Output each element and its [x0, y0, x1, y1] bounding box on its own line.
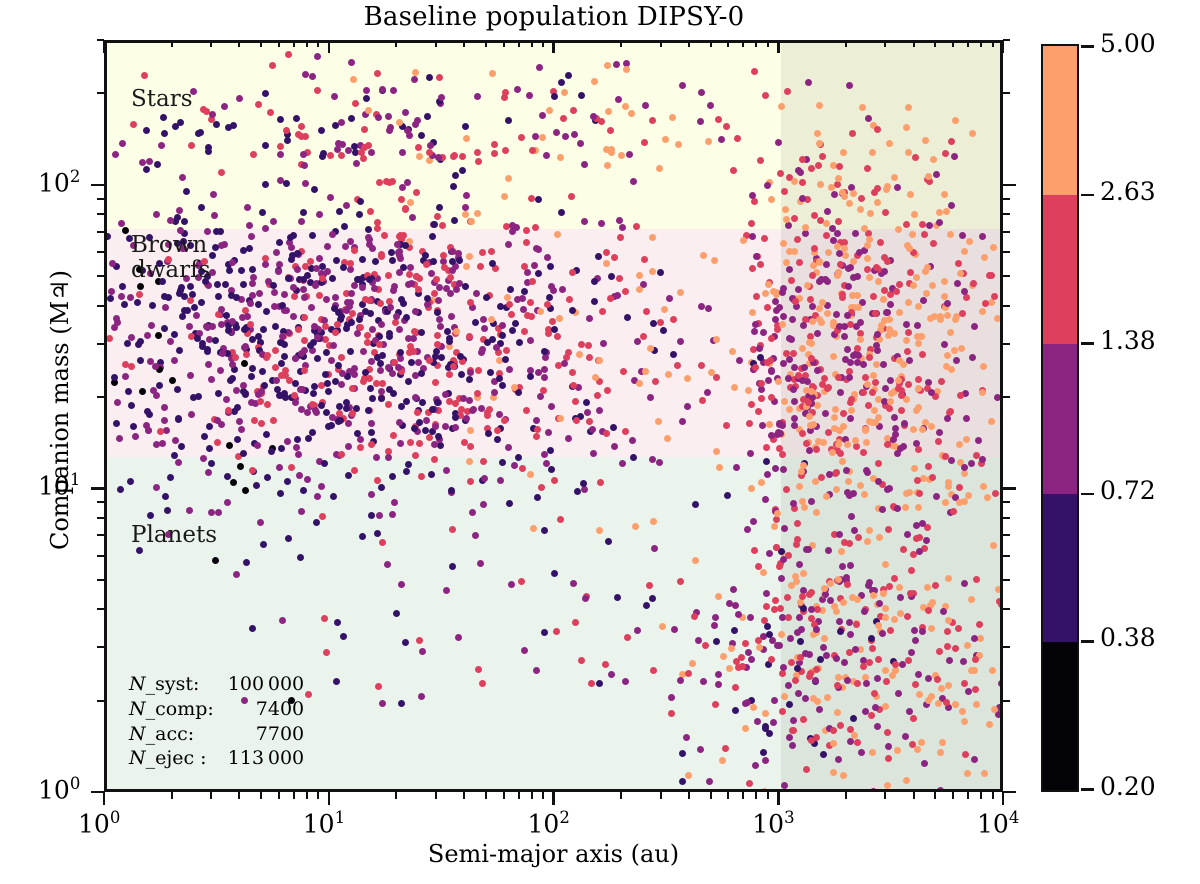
- scatter-point: [585, 342, 592, 349]
- scatter-point: [831, 414, 838, 421]
- scatter-point: [795, 286, 802, 293]
- scatter-point: [405, 281, 412, 288]
- scatter-point: [643, 308, 650, 315]
- scatter-point: [479, 680, 486, 687]
- scatter-point: [301, 367, 308, 374]
- scatter-point: [260, 326, 267, 333]
- scatter-point: [910, 715, 917, 722]
- scatter-point: [762, 723, 769, 730]
- scatter-point: [607, 295, 614, 302]
- scatter-point: [591, 278, 598, 285]
- scatter-point: [972, 656, 979, 663]
- scatter-point: [795, 690, 802, 697]
- scatter-point: [911, 465, 918, 472]
- scatter-point: [849, 130, 856, 137]
- scatter-point: [700, 252, 707, 259]
- scatter-point: [436, 74, 443, 81]
- scatter-point: [368, 512, 375, 519]
- scatter-point: [869, 389, 876, 396]
- scatter-point: [172, 437, 179, 444]
- scatter-point: [854, 739, 861, 746]
- scatter-point: [862, 374, 869, 381]
- scatter-point: [808, 737, 815, 744]
- colorbar: [1041, 44, 1079, 792]
- scatter-point: [385, 272, 392, 279]
- scatter-point: [906, 708, 913, 715]
- scatter-point: [998, 680, 1003, 687]
- scatter-point: [573, 417, 580, 424]
- scatter-point: [402, 206, 409, 213]
- scatter-point: [911, 627, 918, 634]
- scatter-point: [874, 723, 881, 730]
- scatter-point: [838, 548, 845, 555]
- colorbar-tick: [1081, 493, 1094, 496]
- scatter-point: [808, 165, 815, 172]
- scatter-point: [860, 449, 867, 456]
- scatter-point: [815, 438, 822, 445]
- scatter-point: [187, 372, 194, 379]
- scatter-point: [699, 397, 706, 404]
- scatter-point: [407, 439, 414, 446]
- scatter-point: [788, 582, 795, 589]
- scatter-point: [629, 437, 636, 444]
- scatter-point: [767, 357, 774, 364]
- scatter-point: [619, 224, 626, 231]
- scatter-point: [273, 249, 280, 256]
- scatter-point: [381, 232, 388, 239]
- scatter-point: [224, 499, 231, 506]
- scatter-point: [760, 569, 767, 576]
- scatter-point: [934, 676, 941, 683]
- scatter-point: [570, 382, 577, 389]
- scatter-point: [836, 250, 843, 257]
- scatter-point: [271, 303, 278, 310]
- scatter-point: [551, 570, 558, 577]
- scatter-point: [446, 371, 453, 378]
- scatter-point: [791, 178, 798, 185]
- scatter-point: [911, 211, 918, 218]
- y-major-tick-right: [1003, 487, 1016, 490]
- scatter-point: [794, 520, 801, 527]
- scatter-point: [186, 323, 193, 330]
- scatter-point: [885, 743, 892, 750]
- scatter-point: [366, 241, 373, 248]
- scatter-point: [127, 294, 134, 301]
- scatter-point: [410, 348, 417, 355]
- scatter-point: [677, 338, 684, 345]
- scatter-point: [283, 180, 290, 187]
- colorbar-tick: [1081, 194, 1094, 197]
- scatter-point: [340, 633, 347, 640]
- scatter-point: [649, 268, 656, 275]
- colorbar-segment-1.38-2.63: [1043, 194, 1077, 344]
- scatter-point: [463, 263, 470, 270]
- scatter-point: [684, 403, 691, 410]
- scatter-point: [412, 69, 419, 76]
- scatter-point: [805, 399, 812, 406]
- scatter-point: [906, 245, 913, 252]
- scatter-point: [912, 154, 919, 161]
- scatter-point: [362, 369, 369, 376]
- scatter-point: [297, 386, 304, 393]
- scatter-point: [186, 507, 193, 514]
- scatter-point: [919, 221, 926, 228]
- scatter-point: [483, 294, 490, 301]
- scatter-point: [477, 263, 484, 270]
- scatter-point: [852, 437, 859, 444]
- scatter-point: [837, 389, 844, 396]
- scatter-point: [724, 492, 731, 499]
- scatter-point: [176, 207, 183, 214]
- scatter-point: [300, 209, 307, 216]
- scatter-point: [715, 671, 722, 678]
- scatter-point: [876, 534, 883, 541]
- y-minor-tick-right: [1003, 700, 1010, 702]
- scatter-point: [337, 417, 344, 424]
- scatter-point: [134, 299, 141, 306]
- scatter-point: [153, 484, 160, 491]
- scatter-point: [473, 290, 480, 297]
- scatter-point: [154, 161, 161, 168]
- scatter-point: [405, 461, 412, 468]
- scatter-point: [841, 659, 848, 666]
- scatter-point: [887, 398, 894, 405]
- scatter-point: [292, 380, 299, 387]
- scatter-point: [746, 420, 753, 427]
- scatter-point: [641, 139, 648, 146]
- scatter-point: [390, 87, 397, 94]
- scatter-point: [643, 602, 650, 609]
- scatter-point: [275, 268, 282, 275]
- scatter-point: [305, 435, 312, 442]
- scatter-point: [586, 315, 593, 322]
- scatter-point: [764, 182, 771, 189]
- scatter-point: [698, 89, 705, 96]
- scatter-point: [863, 439, 870, 446]
- scatter-point: [570, 580, 577, 587]
- scatter-point: [389, 257, 396, 264]
- scatter-point: [866, 354, 873, 361]
- scatter-point: [541, 348, 548, 355]
- scatter-point: [535, 196, 542, 203]
- scatter-point: [848, 513, 855, 520]
- scatter-point: [790, 727, 797, 734]
- scatter-point: [294, 266, 301, 273]
- scatter-point: [208, 509, 215, 516]
- scatter-point: [994, 315, 1001, 322]
- scatter-point: [316, 292, 323, 299]
- scatter-point: [541, 451, 548, 458]
- colorbar-tick-label: 0.38: [1100, 623, 1156, 652]
- scatter-point: [262, 225, 269, 232]
- scatter-point: [459, 167, 466, 174]
- scatter-point: [171, 357, 178, 364]
- scatter-point: [858, 749, 865, 756]
- scatter-point: [806, 413, 813, 420]
- scatter-point: [273, 377, 280, 384]
- scatter-point: [427, 142, 434, 149]
- scatter-point: [599, 308, 606, 315]
- scatter-point: [172, 123, 179, 130]
- scatter-point: [697, 746, 704, 753]
- scatter-point: [824, 310, 831, 317]
- scatter-point: [809, 303, 816, 310]
- scatter-point: [943, 208, 950, 215]
- scatter-point: [480, 458, 487, 465]
- scatter-point: [338, 313, 345, 320]
- scatter-point: [530, 525, 537, 532]
- scatter-point: [757, 157, 764, 164]
- scatter-point: [524, 269, 531, 276]
- scatter-point: [291, 293, 298, 300]
- scatter-point: [284, 137, 291, 144]
- scatter-point: [270, 218, 277, 225]
- scatter-point: [860, 389, 867, 396]
- x-minor-tick: [260, 792, 262, 799]
- scatter-point: [132, 433, 139, 440]
- scatter-point: [706, 778, 713, 785]
- scatter-point: [301, 294, 308, 301]
- scatter-point: [368, 149, 375, 156]
- scatter-point: [835, 756, 842, 763]
- scatter-point: [372, 258, 379, 265]
- scatter-point: [128, 402, 135, 409]
- scatter-point: [285, 51, 292, 58]
- scatter-point: [919, 628, 926, 635]
- scatter-point: [589, 426, 596, 433]
- scatter-point: [901, 420, 908, 427]
- y-minor-tick: [97, 646, 104, 648]
- scatter-point: [217, 367, 224, 374]
- scatter-point: [254, 442, 261, 449]
- scatter-point: [267, 109, 274, 116]
- scatter-point: [528, 195, 535, 202]
- scatter-point: [474, 93, 481, 100]
- scatter-point: [118, 220, 125, 227]
- scatter-point: [816, 706, 823, 713]
- scatter-point: [912, 637, 919, 644]
- scatter-point: [930, 240, 937, 247]
- scatter-point: [463, 415, 470, 422]
- scatter-point: [345, 443, 352, 450]
- scatter-point: [834, 682, 841, 689]
- scatter-point: [541, 366, 548, 373]
- scatter-point: [481, 325, 488, 332]
- scatter-point: [137, 357, 144, 364]
- scatter-point: [408, 359, 415, 366]
- scatter-point: [969, 130, 976, 137]
- scatter-point: [778, 575, 785, 582]
- scatter-point: [780, 240, 787, 247]
- scatter-point: [367, 310, 374, 317]
- scatter-point: [561, 89, 568, 96]
- scatter-point: [285, 275, 292, 282]
- scatter-point: [544, 301, 551, 308]
- scatter-point: [214, 439, 221, 446]
- scatter-point: [161, 325, 168, 332]
- scatter-point: [557, 516, 564, 523]
- scatter-point: [359, 533, 366, 540]
- scatter-point: [292, 355, 299, 362]
- scatter-point: [536, 64, 543, 71]
- scatter-point: [730, 167, 737, 174]
- scatter-point: [777, 605, 784, 612]
- scatter-point: [990, 542, 997, 549]
- scatter-point: [968, 596, 975, 603]
- x-minor-tick: [688, 792, 690, 799]
- scatter-point: [551, 326, 558, 333]
- x-tick-label: 104: [977, 808, 1019, 838]
- scatter-point: [162, 304, 169, 311]
- scatter-point: [263, 431, 270, 438]
- scatter-point: [463, 192, 470, 199]
- stats-key: N_ejec :: [129, 746, 228, 771]
- scatter-point: [812, 478, 819, 485]
- scatter-point: [968, 667, 975, 674]
- scatter-point: [190, 394, 197, 401]
- scatter-point: [830, 727, 837, 734]
- scatter-point: [937, 787, 944, 792]
- scatter-point: [893, 288, 900, 295]
- scatter-point: [264, 474, 271, 481]
- scatter-point: [971, 756, 978, 763]
- scatter-point: [837, 722, 844, 729]
- scatter-point: [865, 402, 872, 409]
- scatter-point: [850, 715, 857, 722]
- scatter-point: [805, 546, 812, 553]
- scatter-point: [773, 516, 780, 523]
- scatter-point: [553, 129, 560, 136]
- scatter-point: [586, 418, 593, 425]
- scatter-point: [758, 386, 765, 393]
- scatter-point: [896, 357, 903, 364]
- scatter-point: [544, 254, 551, 261]
- scatter-point: [962, 751, 969, 758]
- scatter-point: [319, 513, 326, 520]
- colorbar-tick-label: 5.00: [1100, 29, 1156, 58]
- scatter-point: [433, 276, 440, 283]
- scatter-point: [434, 399, 441, 406]
- scatter-point: [836, 531, 843, 538]
- scatter-point: [846, 374, 853, 381]
- x-minor-tick: [727, 792, 729, 799]
- y-minor-tick-right: [1003, 646, 1010, 648]
- scatter-point: [942, 453, 949, 460]
- scatter-point: [143, 422, 150, 429]
- scatter-point: [397, 349, 404, 356]
- plot-area: StarsBrown dwarfsPlanets N_syst:100 000N…: [104, 40, 1003, 792]
- scatter-point: [419, 648, 426, 655]
- scatter-point: [281, 353, 288, 360]
- scatter-point: [713, 374, 720, 381]
- scatter-point: [910, 282, 917, 289]
- scatter-point: [400, 300, 407, 307]
- scatter-point: [423, 417, 430, 424]
- scatter-point: [605, 538, 612, 545]
- scatter-point: [359, 256, 366, 263]
- scatter-point: [479, 249, 486, 256]
- scatter-point: [623, 66, 630, 73]
- scatter-point: [784, 594, 791, 601]
- scatter-point: [821, 375, 828, 382]
- scatter-point: [616, 275, 623, 282]
- scatter-point: [630, 454, 637, 461]
- scatter-point: [440, 252, 447, 259]
- scatter-point: [167, 217, 174, 224]
- scatter-point: [649, 117, 656, 124]
- x-minor-tick: [293, 792, 295, 799]
- scatter-point: [600, 340, 607, 347]
- scatter-point: [352, 100, 359, 107]
- scatter-point: [277, 116, 284, 123]
- scatter-point: [835, 674, 842, 681]
- scatter-point: [456, 257, 463, 264]
- scatter-point: [191, 304, 198, 311]
- scatter-point: [884, 258, 891, 265]
- stats-value: 113 000: [228, 746, 304, 771]
- scatter-point: [488, 316, 495, 323]
- scatter-point: [281, 341, 288, 348]
- y-minor-tick-right: [1003, 251, 1010, 253]
- scatter-point: [269, 62, 276, 69]
- scatter-point: [505, 175, 512, 182]
- scatter-point: [205, 144, 212, 151]
- scatter-point: [119, 140, 126, 147]
- scatter-point: [791, 422, 798, 429]
- scatter-point: [278, 445, 285, 452]
- y-minor-tick: [97, 198, 104, 200]
- y-minor-tick: [97, 305, 104, 307]
- scatter-point: [108, 288, 115, 295]
- scatter-point: [452, 172, 459, 179]
- scatter-point: [651, 545, 658, 552]
- scatter-point: [864, 255, 871, 262]
- scatter-point: [888, 390, 895, 397]
- scatter-point: [243, 559, 250, 566]
- scatter-point: [843, 467, 850, 474]
- scatter-point: [526, 92, 533, 99]
- scatter-point: [782, 206, 789, 213]
- scatter-point: [683, 734, 690, 741]
- scatter-point: [302, 71, 309, 78]
- scatter-point: [204, 324, 211, 331]
- x-minor-tick: [238, 792, 240, 799]
- scatter-point: [533, 417, 540, 424]
- scatter-point: [915, 340, 922, 347]
- scatter-point: [349, 310, 356, 317]
- scatter-point: [529, 147, 536, 154]
- scatter-point: [816, 305, 823, 312]
- scatter-point: [742, 725, 749, 732]
- scatter-point: [840, 599, 847, 606]
- scatter-point: [583, 399, 590, 406]
- scatter-point: [376, 179, 383, 186]
- scatter-point: [338, 381, 345, 388]
- y-minor-tick-right: [1003, 305, 1010, 307]
- scatter-point: [744, 526, 751, 533]
- scatter-point: [647, 394, 654, 401]
- scatter-point: [855, 352, 862, 359]
- scatter-point: [817, 181, 824, 188]
- scatter-point: [762, 290, 769, 297]
- scatter-point: [214, 417, 221, 424]
- scatter-point: [402, 109, 409, 116]
- scatter-point: [453, 328, 460, 335]
- scatter-point: [786, 406, 793, 413]
- scatter-point: [750, 704, 757, 711]
- scatter-point: [915, 504, 922, 511]
- scatter-point: [448, 313, 455, 320]
